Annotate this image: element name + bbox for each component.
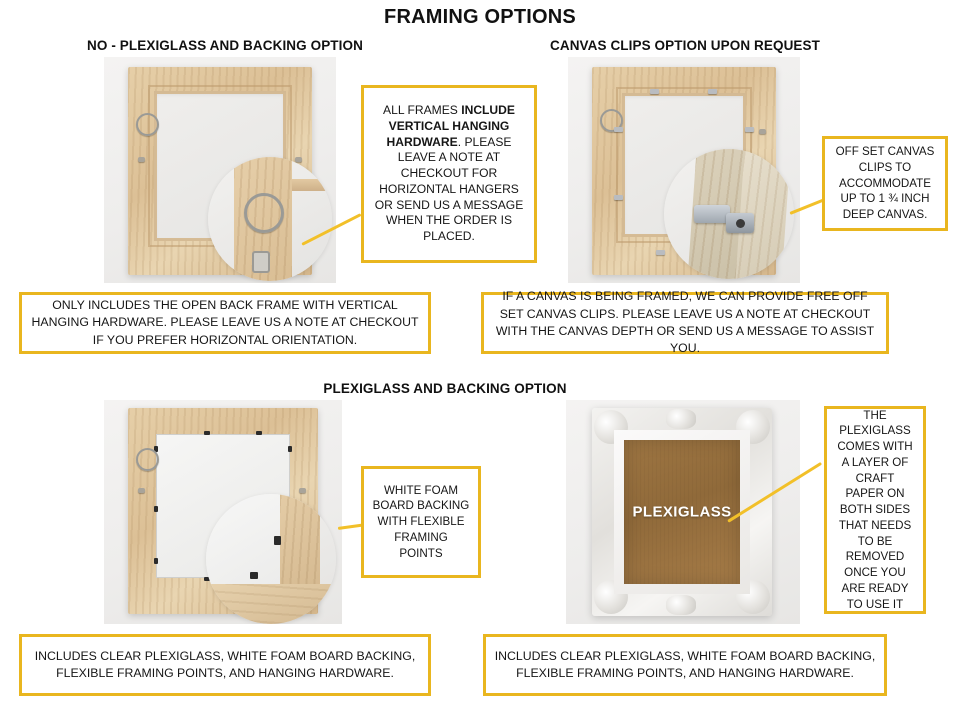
canvas-clip-frame-photo	[568, 57, 800, 283]
magnified-d-ring-icon	[244, 193, 284, 233]
plexiglass-backing-frame-photo	[104, 400, 342, 624]
framing-point-icon	[154, 506, 158, 512]
banner-includes-left: INCLUDES CLEAR PLEXIGLASS, WHITE FOAM BO…	[19, 634, 431, 696]
callout-craft-paper-text: THE PLEXIGLASS COMES WITH A LAYER OF CRA…	[835, 408, 915, 613]
ornament-top-center-icon	[666, 409, 696, 429]
canvas-clip-left-upper-icon	[614, 127, 623, 132]
section-heading-canvas-clips: CANVAS CLIPS OPTION UPON REQUEST	[480, 38, 890, 53]
canvas-clip-left-lower-icon	[614, 195, 623, 200]
magnified-frame-bottom-rail	[206, 584, 336, 624]
framing-point-icon	[256, 431, 262, 435]
page-title: FRAMING OPTIONS	[0, 6, 960, 29]
plexiglass-label: PLEXIGLASS	[624, 504, 740, 521]
section-heading-plexiglass-backing: PLEXIGLASS AND BACKING OPTION	[280, 381, 610, 396]
callout-offset-canvas-clips-text: OFF SET CANVAS CLIPS TO ACCOMMODATE UP T…	[833, 144, 937, 223]
infographic-root: FRAMING OPTIONS NO - PLEXIGLASS AND BACK…	[0, 0, 960, 720]
callout-white-foam-board: WHITE FOAM BOARD BACKING WITH FLEXIBLE F…	[361, 466, 481, 578]
canvas-clip-top-left-icon	[650, 89, 659, 94]
magnified-frame-rail	[280, 494, 320, 596]
open-back-frame-photo	[104, 57, 336, 283]
framing-point-icon	[288, 446, 292, 452]
magnified-framing-point-icon	[250, 572, 258, 579]
screw-right-icon	[759, 129, 766, 134]
magnifier-inset-canvas-clip	[664, 149, 794, 279]
canvas-clip-right-upper-icon	[745, 127, 754, 132]
d-ring-hanger-icon	[136, 448, 159, 471]
section-heading-no-plexiglass: NO - PLEXIGLASS AND BACKING OPTION	[20, 38, 430, 53]
screw-left-icon	[138, 157, 145, 162]
framing-point-icon	[204, 431, 210, 435]
magnified-framing-point-icon	[274, 536, 281, 545]
magnified-canvas-clip-icon	[694, 205, 730, 223]
screw-right-icon	[299, 488, 306, 493]
screw-left-icon	[138, 488, 145, 493]
ornament-bottom-center-icon	[666, 595, 696, 615]
callout-white-foam-board-text: WHITE FOAM BOARD BACKING WITH FLEXIBLE F…	[372, 483, 470, 562]
magnified-clip-screw-icon	[736, 219, 745, 228]
magnified-foam-board	[206, 494, 280, 584]
callout-vertical-hanging-hardware: ALL FRAMES INCLUDE VERTICAL HANGING HARD…	[361, 85, 537, 263]
callout-vertical-hanging-hardware-text: ALL FRAMES INCLUDE VERTICAL HANGING HARD…	[372, 103, 526, 244]
callout-craft-paper: THE PLEXIGLASS COMES WITH A LAYER OF CRA…	[824, 406, 926, 614]
banner-includes-right-text: INCLUDES CLEAR PLEXIGLASS, WHITE FOAM BO…	[494, 648, 876, 683]
canvas-clip-bottom-icon	[656, 250, 665, 255]
d-ring-hanger-icon	[136, 113, 159, 136]
banner-canvas-clips-text: IF A CANVAS IS BEING FRAMED, WE CAN PROV…	[492, 288, 878, 358]
canvas-clip-top-right-icon	[708, 89, 717, 94]
callout-offset-canvas-clips: OFF SET CANVAS CLIPS TO ACCOMMODATE UP T…	[822, 136, 948, 231]
callout-rest: . PLEASE LEAVE A NOTE AT CHECKOUT FOR HO…	[375, 135, 524, 243]
banner-includes-right: INCLUDES CLEAR PLEXIGLASS, WHITE FOAM BO…	[483, 634, 887, 696]
banner-open-back-text: ONLY INCLUDES THE OPEN BACK FRAME WITH V…	[30, 297, 420, 349]
magnifier-inset-framing-points	[206, 494, 336, 624]
magnified-hanger-plate-icon	[252, 251, 270, 273]
screw-right-icon	[295, 157, 302, 162]
magnifier-inset-hanging-hardware	[208, 157, 332, 281]
craft-paper-covered-plexiglass: PLEXIGLASS	[624, 440, 740, 584]
framing-point-icon	[154, 558, 158, 564]
ornate-frame-photo: PLEXIGLASS	[566, 400, 800, 624]
banner-canvas-clips-info: IF A CANVAS IS BEING FRAMED, WE CAN PROV…	[481, 292, 889, 354]
callout-lead: ALL FRAMES	[383, 103, 461, 117]
banner-open-back-includes: ONLY INCLUDES THE OPEN BACK FRAME WITH V…	[19, 292, 431, 354]
magnified-frame-edge	[292, 179, 332, 191]
banner-includes-left-text: INCLUDES CLEAR PLEXIGLASS, WHITE FOAM BO…	[30, 648, 420, 683]
